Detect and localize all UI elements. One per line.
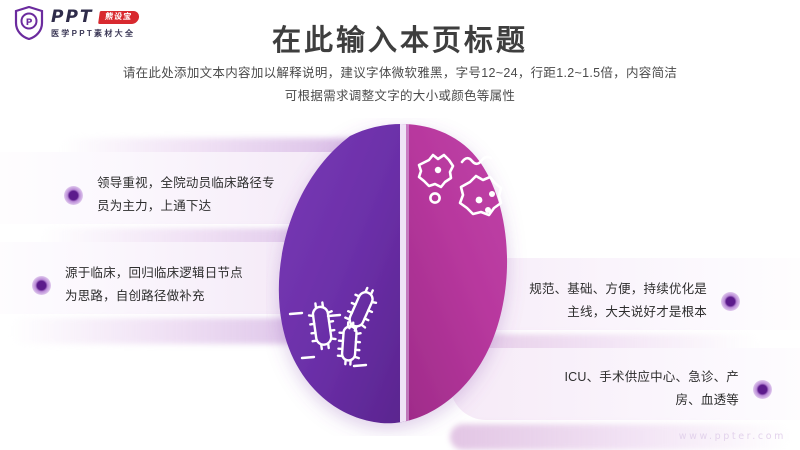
bullet-dot-icon — [721, 292, 740, 311]
list-item[interactable]: 源于临床，回归临床逻辑日节点 为思路，自创路径做补充 — [32, 262, 302, 308]
bullet-dot-icon — [64, 186, 83, 205]
list-item[interactable]: ICU、手术供应中心、急诊、产 房、血透等 — [492, 366, 772, 412]
list-item-label: 领导重视，全院动员临床路径专 员为主力，上通下达 — [97, 172, 275, 218]
capsule-divider — [400, 118, 406, 436]
list-item-label: 源于临床，回归临床逻辑日节点 为思路，自创路径做补充 — [65, 262, 243, 308]
subtitle-line-1: 请在此处添加文本内容加以解释说明，建议字体微软雅黑，字号12~24，行距1.2~… — [0, 62, 800, 85]
bullet-dot-icon — [753, 380, 772, 399]
list-item-label: ICU、手术供应中心、急诊、产 房、血透等 — [564, 366, 739, 412]
list-item[interactable]: 领导重视，全院动员临床路径专 员为主力，上通下达 — [64, 172, 334, 218]
subtitle-line-2: 可根据需求调整文字的大小或颜色等属性 — [0, 85, 800, 108]
list-item[interactable]: 规范、基础、方便，持续优化是 主线，大夫说好才是根本 — [460, 278, 740, 324]
site-watermark: www.ppter.com — [679, 431, 786, 442]
capsule-divider-shade — [406, 118, 409, 436]
page-title: 在此输入本页标题 — [0, 17, 800, 59]
bullet-dot-icon — [32, 276, 51, 295]
list-item-label: 规范、基础、方便，持续优化是 主线，大夫说好才是根本 — [529, 278, 707, 324]
page-subtitle: 请在此处添加文本内容加以解释说明，建议字体微软雅黑，字号12~24，行距1.2~… — [0, 62, 800, 108]
